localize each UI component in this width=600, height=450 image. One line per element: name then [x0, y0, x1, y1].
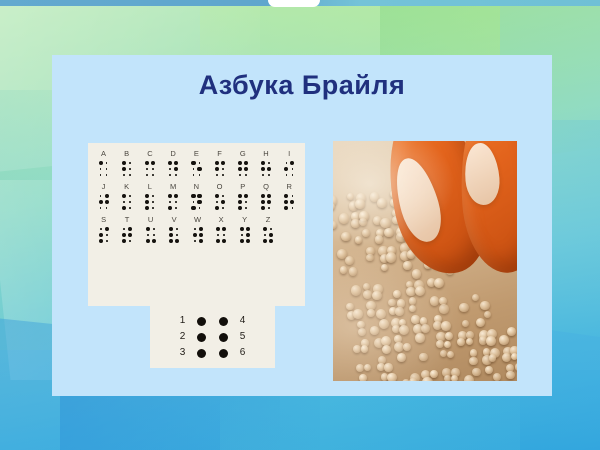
braille-letter-label: V [172, 215, 177, 225]
cell-diagram-dot [219, 333, 228, 342]
braille-cell [145, 226, 157, 244]
cell-number-right: 4 [240, 316, 246, 326]
braille-dot-raised [198, 238, 204, 244]
braille-alphabet-chart: ABCDEFGHIJKLMNOPQRSTUVWXYZ [88, 143, 305, 306]
braille-row: STUVWXYZ [92, 215, 301, 244]
braille-cell [144, 160, 156, 178]
braille-dot-flat [196, 205, 202, 211]
braille-letter-x: X [210, 215, 234, 244]
braille-letter-label: H [263, 149, 269, 159]
slide-canvas: Азбука Брайля ABCDEFGHIJKLMNOPQRSTUVWXYZ… [0, 0, 600, 450]
braille-dot-flat [104, 172, 110, 178]
braille-letter-b: B [115, 149, 138, 178]
cell-diagram-dot [197, 333, 206, 342]
braille-cell [98, 193, 110, 211]
braille-letter-v: V [163, 215, 187, 244]
braille-letter-label: R [287, 182, 293, 192]
braille-letter-label: W [194, 215, 201, 225]
braille-dot-flat [104, 238, 110, 244]
braille-letter-o: O [208, 182, 231, 211]
braille-letter-j: J [92, 182, 115, 211]
braille-letter-l: L [138, 182, 161, 211]
cell-number-left: 2 [180, 332, 186, 342]
braille-letter-p: P [231, 182, 254, 211]
braille-letter-label: F [217, 149, 222, 159]
braille-dot-flat [127, 238, 133, 244]
braille-letter-label: S [101, 215, 106, 225]
braille-letter-w: W [186, 215, 210, 244]
braille-letter-r: R [278, 182, 301, 211]
braille-letter-i: I [278, 149, 301, 178]
page-title: Азбука Брайля [52, 72, 552, 99]
braille-row: ABCDEFGHI [92, 149, 301, 178]
braille-cell [215, 226, 227, 244]
braille-cell [190, 160, 202, 178]
braille-letter-label: L [148, 182, 152, 192]
braille-letter-m: M [162, 182, 185, 211]
braille-letter-label: P [240, 182, 245, 192]
braille-letter-label: Z [266, 215, 271, 225]
braille-dot-flat [266, 172, 272, 178]
braille-cell [260, 160, 272, 178]
braille-letter-label: I [288, 149, 290, 159]
braille-cell [214, 160, 226, 178]
braille-letter-label: U [148, 215, 154, 225]
braille-cell-grid: 142536 [175, 313, 251, 361]
braille-dot-flat [127, 172, 133, 178]
braille-letter-label: J [102, 182, 106, 192]
braille-dot-flat [150, 205, 156, 211]
braille-reading-photo [333, 141, 517, 381]
braille-dot-flat [220, 172, 226, 178]
braille-dot-raised [174, 238, 180, 244]
braille-letter-c: C [138, 149, 161, 178]
braille-cell [190, 193, 202, 211]
braille-letter-label: M [170, 182, 177, 192]
cell-number-left: 3 [180, 348, 186, 358]
braille-cell [262, 226, 274, 244]
cell-number-right: 5 [240, 332, 246, 342]
braille-cell [192, 226, 204, 244]
braille-letter-label: Y [242, 215, 247, 225]
braille-letter-u: U [139, 215, 163, 244]
braille-cell [167, 193, 179, 211]
braille-dot-raised [221, 238, 227, 244]
braille-dot-flat [127, 205, 133, 211]
cell-diagram-dot [219, 317, 228, 326]
braille-letter-label: Q [263, 182, 269, 192]
braille-cell [121, 160, 133, 178]
braille-letter-label: O [217, 182, 223, 192]
braille-letter-s: S [92, 215, 116, 244]
photo-light-sheen [333, 141, 517, 381]
braille-letter-z: Z [257, 215, 281, 244]
cell-diagram-dot [219, 349, 228, 358]
braille-row: JKLMNOPQR [92, 182, 301, 211]
braille-letter-label: B [124, 149, 129, 159]
cell-diagram-dot [197, 349, 206, 358]
braille-letter-label: C [147, 149, 153, 159]
braille-letter-d: D [162, 149, 185, 178]
braille-letter-label: D [170, 149, 176, 159]
braille-dot-flat [220, 205, 226, 211]
braille-cell [237, 160, 249, 178]
braille-dot-flat [243, 205, 249, 211]
braille-dot-flat [243, 172, 249, 178]
cell-number-left: 1 [180, 316, 186, 326]
braille-letter-y: Y [233, 215, 257, 244]
braille-cell [239, 226, 251, 244]
braille-letter-g: G [231, 149, 254, 178]
braille-cell [121, 226, 133, 244]
braille-letter-label: A [101, 149, 106, 159]
braille-cell [283, 193, 295, 211]
braille-letter-e: E [185, 149, 208, 178]
top-notch [268, 0, 320, 7]
braille-dot-flat [196, 172, 202, 178]
braille-dot-flat [150, 172, 156, 178]
braille-dot-raised [245, 238, 251, 244]
braille-cell [214, 193, 226, 211]
braille-dot-flat [289, 172, 295, 178]
braille-letter-label: X [219, 215, 224, 225]
braille-dot-flat [173, 172, 179, 178]
braille-dot-flat [104, 205, 110, 211]
braille-cell [167, 160, 179, 178]
braille-letter-k: K [115, 182, 138, 211]
braille-cell [260, 193, 272, 211]
braille-rows: ABCDEFGHIJKLMNOPQRSTUVWXYZ [88, 143, 305, 248]
braille-letter-q: Q [255, 182, 278, 211]
braille-dot-flat [173, 205, 179, 211]
braille-dot-flat [289, 205, 295, 211]
braille-cell [144, 193, 156, 211]
braille-cell-diagram: 142536 [150, 306, 275, 368]
braille-cell [168, 226, 180, 244]
braille-letter-h: H [255, 149, 278, 178]
braille-letter-label: K [124, 182, 129, 192]
cell-number-right: 6 [240, 348, 246, 358]
braille-dot-flat [266, 205, 272, 211]
braille-letter-n: N [185, 182, 208, 211]
braille-cell [283, 160, 295, 178]
cell-diagram-dot [197, 317, 206, 326]
braille-cell [237, 193, 249, 211]
braille-cell [98, 226, 110, 244]
braille-letter-t: T [116, 215, 140, 244]
braille-cell [121, 193, 133, 211]
braille-letter-label: G [240, 149, 246, 159]
braille-dot-raised [151, 238, 157, 244]
braille-dot-raised [268, 238, 274, 244]
braille-cell [98, 160, 110, 178]
braille-letter-a: A [92, 149, 115, 178]
braille-letter-f: F [208, 149, 231, 178]
braille-letter-label: T [125, 215, 130, 225]
braille-letter-label: E [194, 149, 199, 159]
braille-letter-label: N [194, 182, 200, 192]
